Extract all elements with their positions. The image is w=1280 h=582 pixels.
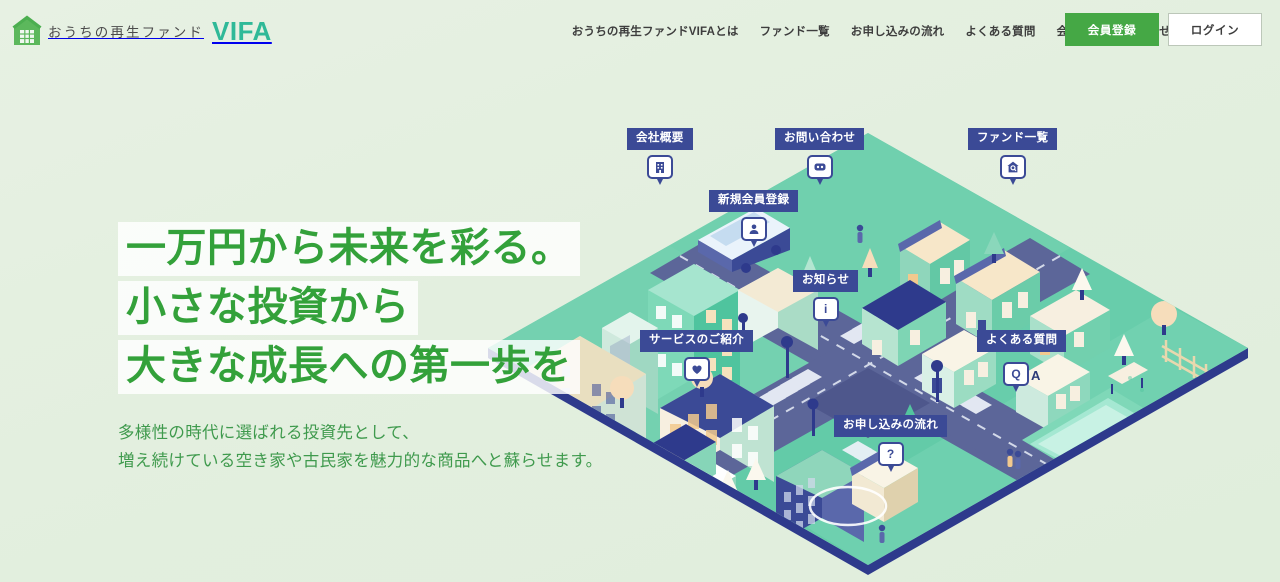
map-pin-fundlist[interactable]: ファンド一覧 — [968, 128, 1057, 179]
map-pin-flow-label: お申し込みの流れ — [834, 415, 947, 437]
qa-icon: Q A — [1003, 357, 1040, 386]
question-glyph: ? — [887, 448, 894, 460]
hero-subtitle: 多様性の時代に選ばれる投資先として、 増え続けている空き家や古民家を魅力的な商品… — [118, 419, 602, 476]
brand-name-text: おうちの再生ファンド — [48, 21, 204, 41]
nav-flow[interactable]: お申し込みの流れ — [851, 23, 945, 39]
user-add-icon — [741, 217, 767, 241]
site-header: おうちの再生ファンド VIFA おうちの再生ファンドVIFAとは ファンド一覧 … — [0, 0, 1280, 62]
signup-button[interactable]: 会員登録 — [1065, 13, 1159, 46]
nav-fund-list[interactable]: ファンド一覧 — [760, 23, 830, 39]
info-icon: i — [813, 297, 839, 321]
heart-icon — [684, 357, 710, 381]
house-search-icon — [1000, 155, 1026, 179]
map-pin-news[interactable]: お知らせ i — [793, 270, 858, 321]
map-pin-company[interactable]: 会社概要 — [627, 128, 693, 179]
headline-line-3: 大きな成長への第一歩を — [118, 340, 580, 394]
map-pin-register-label: 新規会員登録 — [709, 190, 798, 212]
headline-line-1: 一万円から未来を彩る。 — [118, 222, 580, 276]
brand-logo[interactable]: おうちの再生ファンド VIFA — [12, 15, 272, 47]
header-actions: 会員登録 ログイン — [1065, 13, 1262, 46]
map-pin-contact[interactable]: お問い合わせ — [775, 128, 864, 179]
headline-row-2: 小さな投資から — [118, 281, 602, 340]
map-pin-faq[interactable]: よくある質問 Q A — [977, 330, 1066, 386]
chat-icon — [807, 155, 833, 179]
headline-row-3: 大きな成長への第一歩を — [118, 340, 602, 399]
info-glyph: i — [824, 303, 827, 315]
headline-line-2: 小さな投資から — [118, 281, 418, 335]
question-bubble-icon: Q — [1003, 362, 1029, 386]
house-logo-icon — [12, 15, 42, 47]
map-pin-flow[interactable]: お申し込みの流れ ? — [834, 415, 947, 466]
map-pin-contact-label: お問い合わせ — [775, 128, 864, 150]
map-pin-faq-label: よくある質問 — [977, 330, 1066, 352]
hero-copy: 一万円から未来を彩る。 小さな投資から 大きな成長への第一歩を 多様性の時代に選… — [118, 222, 602, 476]
hero-subtitle-line-2: 増え続けている空き家や古民家を魅力的な商品へと蘇らせます。 — [118, 447, 602, 475]
headline-row-1: 一万円から未来を彩る。 — [118, 222, 602, 281]
map-pin-register[interactable]: 新規会員登録 — [709, 190, 798, 241]
map-pin-company-label: 会社概要 — [627, 128, 693, 150]
map-pin-service-label: サービスのご紹介 — [640, 330, 753, 352]
brand-wordmark: VIFA — [212, 18, 272, 44]
map-pin-fundlist-label: ファンド一覧 — [968, 128, 1057, 150]
login-button[interactable]: ログイン — [1168, 13, 1262, 46]
map-pin-service[interactable]: サービスのご紹介 — [640, 330, 753, 381]
nav-about[interactable]: おうちの再生ファンドVIFAとは — [572, 23, 739, 39]
map-pin-news-label: お知らせ — [793, 270, 858, 292]
hero-subtitle-line-1: 多様性の時代に選ばれる投資先として、 — [118, 419, 602, 447]
question-icon: ? — [878, 442, 904, 466]
building-icon — [647, 155, 673, 179]
nav-faq[interactable]: よくある質問 — [965, 23, 1035, 39]
q-glyph: Q — [1011, 368, 1020, 380]
a-glyph: A — [1031, 369, 1040, 386]
page-root: おうちの再生ファンド VIFA おうちの再生ファンドVIFAとは ファンド一覧 … — [0, 0, 1280, 582]
